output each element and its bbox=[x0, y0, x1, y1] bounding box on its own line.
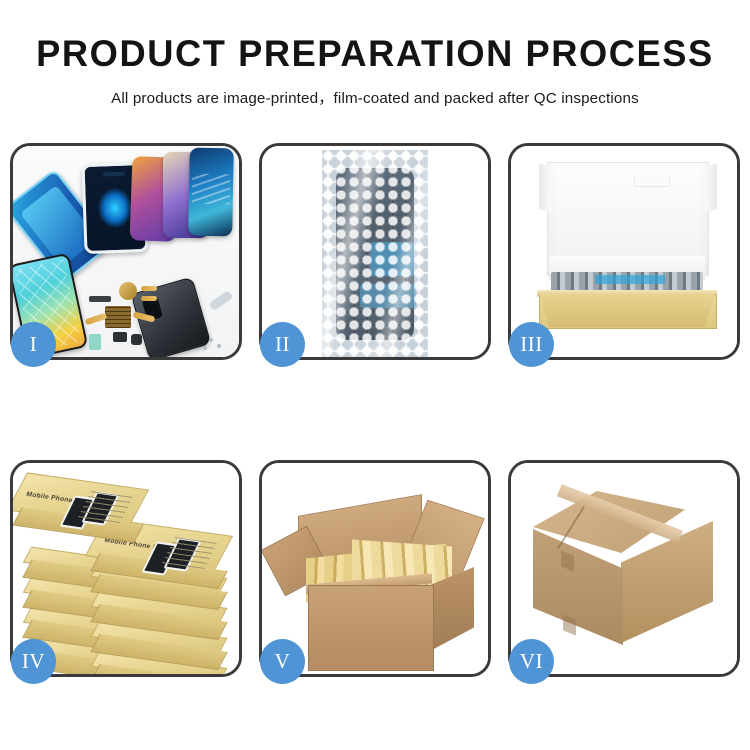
step-badge-2: II bbox=[260, 322, 305, 367]
step-image-5 bbox=[262, 463, 488, 674]
step-badge-5: V bbox=[260, 639, 305, 684]
screw-part-icon bbox=[209, 338, 213, 342]
step-panel-5[interactable]: V bbox=[259, 460, 491, 677]
step-panel-1[interactable]: I bbox=[10, 143, 242, 360]
step-numeral: IV bbox=[22, 651, 45, 672]
vibration-motor-part-icon bbox=[131, 334, 142, 345]
step-numeral: I bbox=[30, 334, 38, 355]
step-image-3 bbox=[511, 146, 737, 357]
carton-front-panel-icon bbox=[308, 585, 434, 671]
step-badge-3: III bbox=[509, 322, 554, 367]
screw-part-icon bbox=[217, 344, 221, 348]
step-numeral: VI bbox=[520, 651, 543, 672]
screw-part-icon bbox=[203, 346, 207, 350]
step-numeral: III bbox=[520, 334, 542, 355]
logic-board-part-icon bbox=[105, 306, 131, 328]
step-panel-2[interactable]: II bbox=[259, 143, 491, 360]
step-image-4: Mobile Phone Spare Parts Mobile Phone Sp… bbox=[13, 463, 239, 674]
kraft-mailer-front-icon bbox=[539, 294, 715, 327]
step-panel-6[interactable]: VI bbox=[508, 460, 740, 677]
kraft-box-labelled-icon: Mobile Phone Spare Parts bbox=[17, 481, 137, 517]
step-badge-1: I bbox=[11, 322, 56, 367]
step-panel-3[interactable]: III bbox=[508, 143, 740, 360]
step-badge-6: VI bbox=[509, 639, 554, 684]
step-image-6 bbox=[511, 463, 737, 674]
earpiece-mesh-part-icon bbox=[89, 296, 111, 302]
page-header: PRODUCT PREPARATION PROCESS All products… bbox=[0, 0, 750, 108]
flex-cable-part-icon bbox=[141, 286, 157, 291]
step-badge-4: IV bbox=[11, 639, 56, 684]
page-title: PRODUCT PREPARATION PROCESS bbox=[8, 0, 743, 75]
step-image-2 bbox=[262, 146, 488, 357]
speaker-part-icon bbox=[113, 332, 127, 342]
page-subtitle: All products are image-printed，film-coat… bbox=[0, 75, 750, 108]
bubble-wrap-package-icon bbox=[322, 150, 428, 357]
step-numeral: II bbox=[275, 334, 290, 355]
camera-lens-part-icon bbox=[119, 282, 137, 300]
step-panel-4[interactable]: Mobile Phone Spare Parts Mobile Phone Sp… bbox=[10, 460, 242, 677]
step-numeral: V bbox=[275, 651, 291, 672]
film-sheen-layer bbox=[322, 150, 428, 357]
step-image-1 bbox=[13, 146, 239, 357]
battery-part-icon bbox=[89, 334, 101, 350]
process-step-grid: I II bbox=[10, 143, 740, 718]
flex-cable-part-icon bbox=[141, 296, 157, 301]
lid-notch-icon bbox=[634, 177, 670, 187]
phone-display-blue-icon bbox=[188, 148, 234, 237]
